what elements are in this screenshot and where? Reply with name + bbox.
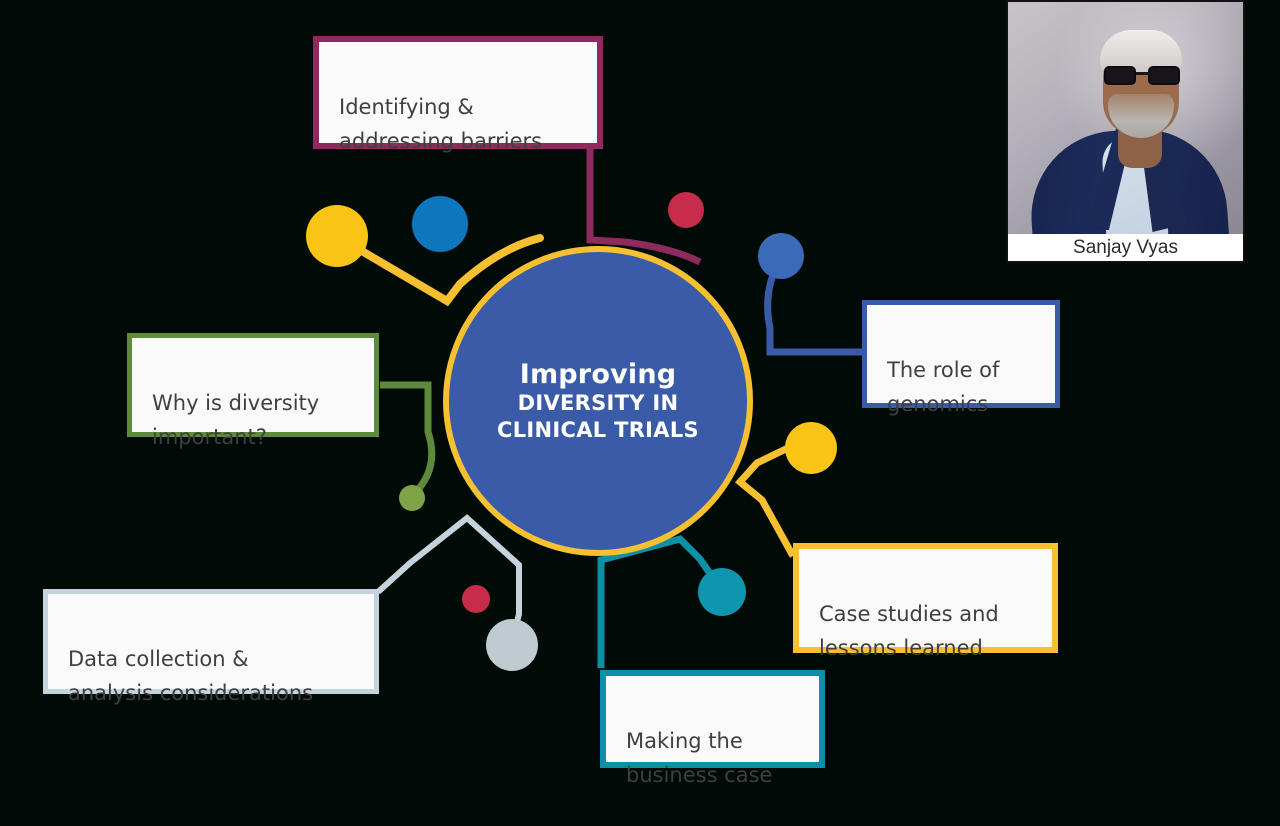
decorative-dot-red-top xyxy=(668,192,704,228)
central-hub: Improving DIVERSITY IN CLINICAL TRIALS xyxy=(443,246,753,556)
glasses-bridge-shape xyxy=(1136,72,1150,75)
decorative-dot-yellow-right xyxy=(785,422,837,474)
callout-why-is-diversity-important[interactable]: Why is diversity important? xyxy=(127,333,379,437)
connector-cases xyxy=(740,447,793,556)
callout-why-label: Why is diversity important? xyxy=(152,386,354,454)
decorative-dot-teal-bottom xyxy=(698,568,746,616)
slide-canvas: Improving DIVERSITY IN CLINICAL TRIALS I… xyxy=(0,0,1280,819)
callout-business-label: Making the business case xyxy=(626,724,799,792)
speaker-photo xyxy=(1008,2,1243,238)
decorative-dot-yellow-top-left xyxy=(306,205,368,267)
decorative-dot-blue-right xyxy=(758,233,804,279)
callout-identifying-addressing-barriers[interactable]: Identifying & addressing barriers xyxy=(313,36,603,149)
callout-cases-label: Case studies and lessons learned xyxy=(819,597,1032,665)
decorative-dot-green-left xyxy=(399,485,425,511)
connector-why xyxy=(380,385,432,494)
callout-the-role-of-genomics[interactable]: The role of genomics xyxy=(862,300,1060,408)
glasses-icon xyxy=(1104,66,1180,85)
speaker-name-label: Sanjay Vyas xyxy=(1008,234,1243,261)
callout-data-label: Data collection & analysis consideration… xyxy=(68,642,354,710)
decorative-dot-gray-bottom xyxy=(486,619,538,671)
callout-barriers-label: Identifying & addressing barriers xyxy=(339,90,577,158)
hub-title-line1: Improving xyxy=(520,359,677,391)
callout-genomics-label: The role of genomics xyxy=(887,353,1035,421)
speaker-thumbnail: Sanjay Vyas xyxy=(1006,0,1245,263)
hub-title-line3: CLINICAL TRIALS xyxy=(497,417,699,443)
decorative-dot-red-bottom-left xyxy=(462,585,490,613)
decorative-dot-blue-top xyxy=(412,196,468,252)
callout-case-studies-and-lessons-learned[interactable]: Case studies and lessons learned xyxy=(793,543,1058,653)
callout-making-the-business-case[interactable]: Making the business case xyxy=(600,670,825,768)
hub-title-line2: DIVERSITY IN xyxy=(518,390,679,416)
callout-data-collection-analysis-considerations[interactable]: Data collection & analysis consideration… xyxy=(43,589,379,694)
